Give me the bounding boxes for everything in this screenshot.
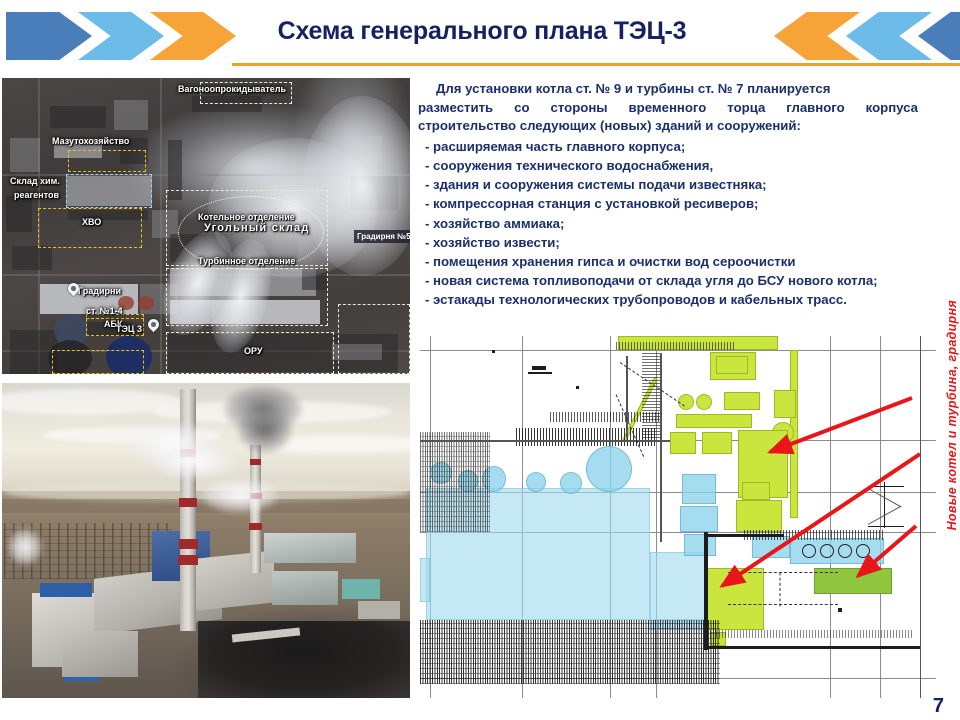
photo-chimney-stripe (179, 498, 197, 507)
photo-coal-pile (198, 621, 410, 698)
photo-aux-building (264, 533, 356, 563)
page-title: Схема генерального плана ТЭЦ-3 (232, 14, 732, 48)
photo-chimney-stripe (249, 523, 262, 530)
label-vagonoprokidyvatel: Вагоноопрокидыватель (178, 84, 286, 95)
arrow-to-new-turbine (722, 454, 920, 586)
list-item: - эстакады технологических трубопроводов… (425, 290, 918, 309)
sat-block (114, 100, 148, 130)
chevron-left-1 (6, 12, 92, 60)
new-equipment-caption: Новые котел и турбина, градирня (945, 300, 959, 530)
chevron-right-3 (918, 12, 960, 60)
new-buildings-list: - расширяемая часть главного корпуса; - … (418, 137, 918, 310)
list-item: - здания и сооружения системы подачи изв… (425, 175, 918, 194)
photo-chimney-stripe (179, 539, 198, 549)
sat-block (12, 246, 52, 270)
photo-steam-plume (152, 445, 238, 479)
arrow-to-new-cooling-tower (858, 526, 916, 576)
photo-turbine-hall (188, 550, 274, 611)
slide-header: Схема генерального плана ТЭЦ-3 (0, 0, 960, 72)
annotation-box-hvo (38, 208, 142, 248)
sat-block (6, 196, 32, 232)
label-turbinnoe-otdelenie: Турбинное отделение (198, 256, 295, 267)
satellite-plan-image: Вагоноопрокидыватель Мазутохозяйство Скл… (2, 78, 410, 374)
sat-storage-tank (138, 296, 154, 310)
photo-blue-roof (40, 583, 92, 597)
list-item: - хозяйство извести; (425, 233, 918, 252)
slide: Схема генерального плана ТЭЦ-3 (0, 0, 960, 720)
description-text-block: Для установки котла ст. № 9 и турбины ст… (418, 80, 918, 310)
annotation-box-gradirni (52, 350, 144, 374)
aerial-photo (2, 383, 410, 698)
photo-aux-building (358, 601, 400, 619)
photo-smoke-plume (238, 409, 292, 453)
intro-line-3: строительство следующих (новых) зданий и… (418, 118, 801, 133)
map-pin-icon (68, 283, 79, 297)
label-tec3: ТЭЦ 3 (116, 324, 142, 335)
photo-aux-building (272, 571, 338, 605)
intro-paragraph: Для установки котла ст. № 9 и турбины ст… (418, 80, 918, 136)
photo-teal-building (342, 579, 380, 599)
label-hvo: ХВО (82, 217, 101, 228)
page-number: 7 (933, 695, 944, 718)
label-gradirni: Градирни (78, 286, 121, 297)
annotation-box-mazutohozyaystvo (68, 150, 146, 172)
list-item: - помещения хранения гипса и очистки вод… (425, 252, 918, 271)
intro-line-1: Для установки котла ст. № 9 и турбины ст… (418, 81, 830, 96)
label-ugolnyy-sklad: Угольный склад (204, 223, 310, 234)
sat-block (50, 106, 106, 128)
list-item: - расширяемая часть главного корпуса; (425, 137, 918, 156)
photo-steam-plume (8, 529, 42, 565)
label-gradirni-st: ст. №1-4 (86, 306, 123, 317)
intro-line-2: разместить со стороны временного торца г… (418, 99, 918, 118)
list-item: - компрессорная станция с установкой рес… (425, 194, 918, 213)
list-item: - сооружения технического водоснабжения, (425, 156, 918, 175)
site-plan-drawing (420, 336, 936, 698)
label-sklad-him-reagentov-2: реагентов (14, 190, 59, 201)
header-divider (232, 63, 960, 66)
map-pin-icon (148, 319, 159, 333)
label-kotelnoe-otdelenie: Котельное отделение (198, 212, 295, 223)
photo-chimney-stripe (178, 555, 198, 565)
sat-block (10, 138, 40, 172)
list-item: - хозяйство аммиака; (425, 214, 918, 233)
arrow-to-new-boiler (770, 398, 912, 452)
photo-steam-plume (202, 479, 278, 513)
list-item: - новая система топливоподачи от склада … (425, 271, 918, 290)
label-gradirnya-5: Градирня №5 (354, 230, 410, 243)
photo-aux-building (62, 631, 138, 677)
photo-chimney-stripe (250, 459, 261, 465)
annotation-box-turbinnoe (166, 268, 328, 326)
annotation-box-sklad-him-reagentov (66, 174, 152, 208)
plan-annotation-arrows (420, 336, 936, 698)
label-oru: ОРУ (244, 346, 262, 357)
label-mazutohozyaystvo: Мазутохозяйство (52, 136, 129, 147)
label-sklad-him-reagentov-1: Склад хим. (10, 176, 60, 187)
annotation-box-gradirnya5 (338, 304, 410, 374)
